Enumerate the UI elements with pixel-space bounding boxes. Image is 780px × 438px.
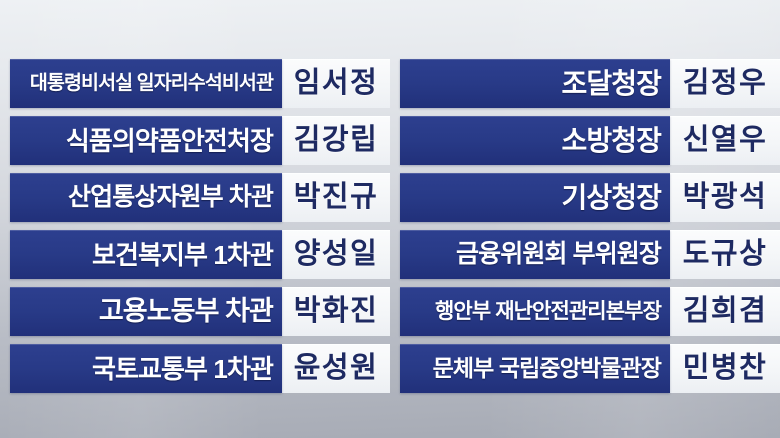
position-title-label: 기상청장 (562, 184, 661, 212)
appointee-name-cell: 김희겸 (670, 287, 780, 336)
position-title-label: 고용노동부 차관 (99, 298, 273, 325)
appointee-name-cell: 윤성원 (282, 344, 390, 393)
appointment-row: 금융위원회 부위원장도규상 (400, 230, 780, 279)
position-title-bar: 보건복지부 1차관 (10, 230, 282, 279)
appointee-name-cell: 민병찬 (670, 344, 780, 393)
appointee-name: 박진규 (294, 183, 379, 212)
appointment-row: 소방청장신열우 (400, 116, 780, 165)
appointment-column-left: 대통령비서실 일자리수석비서관임서정식품의약품안전처장김강립산업통상자원부 차관… (10, 59, 390, 393)
position-title-label: 문체부 국립중앙박물관장 (433, 357, 661, 380)
appointment-row: 산업통상자원부 차관박진규 (10, 173, 390, 222)
appointment-row: 문체부 국립중앙박물관장민병찬 (400, 344, 780, 393)
appointee-name-cell: 도규상 (670, 230, 780, 279)
appointee-name: 도규상 (683, 240, 768, 269)
appointee-name: 신열우 (683, 126, 768, 155)
appointee-name-cell: 박화진 (282, 287, 390, 336)
position-title-bar: 기상청장 (400, 173, 670, 222)
appointee-name: 박화진 (294, 297, 379, 326)
position-title-bar: 국토교통부 1차관 (10, 344, 282, 393)
appointment-row: 대통령비서실 일자리수석비서관임서정 (10, 59, 390, 108)
position-title-bar: 문체부 국립중앙박물관장 (400, 344, 670, 393)
position-title-label: 조달청장 (562, 70, 661, 98)
appointment-row: 보건복지부 1차관양성일 (10, 230, 390, 279)
appointee-name: 김희겸 (683, 297, 768, 326)
position-title-label: 식품의약품안전처장 (66, 128, 273, 154)
appointment-row: 기상청장박광석 (400, 173, 780, 222)
appointee-name: 임서정 (294, 69, 379, 98)
position-title-label: 소방청장 (562, 127, 661, 155)
position-title-bar: 식품의약품안전처장 (10, 116, 282, 165)
appointment-row: 식품의약품안전처장김강립 (10, 116, 390, 165)
appointee-name: 민병찬 (683, 354, 768, 383)
position-title-bar: 조달청장 (400, 59, 670, 108)
appointee-name-cell: 박광석 (670, 173, 780, 222)
appointee-name-cell: 신열우 (670, 116, 780, 165)
appointment-row: 행안부 재난안전관리본부장김희겸 (400, 287, 780, 336)
position-title-label: 국토교통부 1차관 (92, 356, 273, 382)
appointee-name-cell: 임서정 (282, 59, 390, 108)
appointee-name: 윤성원 (294, 354, 379, 383)
appointee-name: 김강립 (294, 126, 379, 155)
position-title-label: 산업통상자원부 차관 (68, 185, 273, 210)
appointee-name: 박광석 (683, 183, 768, 212)
appointee-name-cell: 김강립 (282, 116, 390, 165)
position-title-bar: 대통령비서실 일자리수석비서관 (10, 59, 282, 108)
position-title-bar: 행안부 재난안전관리본부장 (400, 287, 670, 336)
appointee-name-cell: 김정우 (670, 59, 780, 108)
position-title-bar: 산업통상자원부 차관 (10, 173, 282, 222)
position-title-label: 대통령비서실 일자리수석비서관 (30, 74, 273, 94)
position-title-bar: 금융위원회 부위원장 (400, 230, 670, 279)
broadcast-graphic-screen: 대통령비서실 일자리수석비서관임서정식품의약품안전처장김강립산업통상자원부 차관… (0, 0, 780, 438)
position-title-bar: 고용노동부 차관 (10, 287, 282, 336)
appointment-row: 고용노동부 차관박화진 (10, 287, 390, 336)
appointment-row: 국토교통부 1차관윤성원 (10, 344, 390, 393)
position-title-bar: 소방청장 (400, 116, 670, 165)
position-title-label: 행안부 재난안전관리본부장 (435, 301, 661, 322)
appointee-name-cell: 박진규 (282, 173, 390, 222)
appointee-name: 김정우 (683, 69, 768, 98)
position-title-label: 금융위원회 부위원장 (456, 242, 661, 267)
appointee-name-cell: 양성일 (282, 230, 390, 279)
position-title-label: 보건복지부 1차관 (92, 242, 273, 268)
appointment-row: 조달청장김정우 (400, 59, 780, 108)
appointee-name: 양성일 (294, 240, 379, 269)
appointment-column-right: 조달청장김정우소방청장신열우기상청장박광석금융위원회 부위원장도규상행안부 재난… (400, 59, 780, 393)
